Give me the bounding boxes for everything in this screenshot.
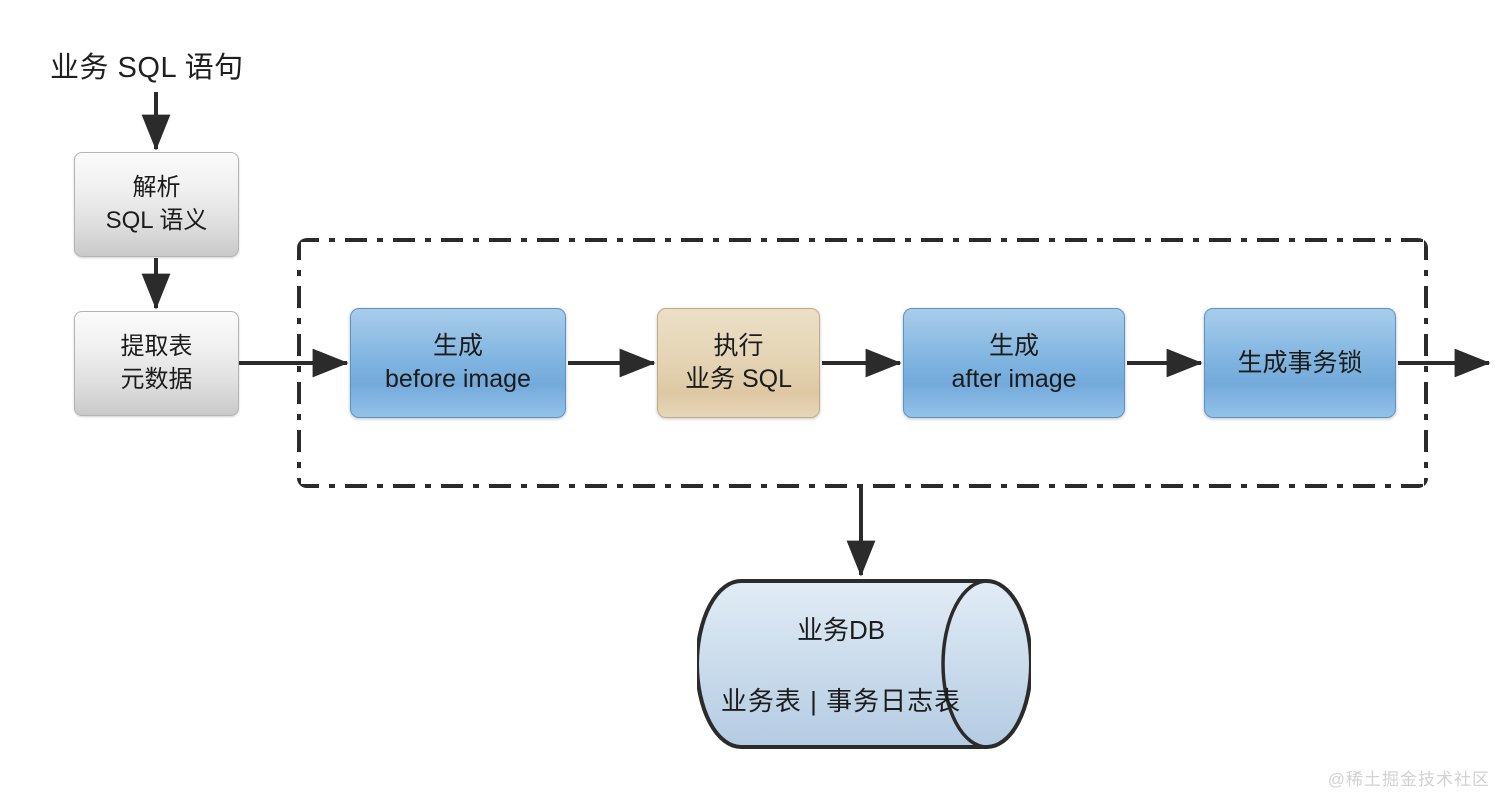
diagram-canvas: 业务 SQL 语句 解析 SQL 语义 提取表 元数据 生成 before im… [0,0,1512,806]
step-parse-sql-semantics[interactable]: 解析 SQL 语义 [74,152,239,257]
step-generate-after-image-line-1: 生成 [989,330,1039,363]
database-cylinder[interactable]: 业务DB 业务表 | 事务日志表 [697,578,1031,750]
watermark: @稀土掘金技术社区 [1328,765,1490,790]
step-generate-before-image[interactable]: 生成 before image [350,308,566,418]
step-parse-sql-semantics-line-2: SQL 语义 [106,205,208,237]
step-generate-before-image-line-1: 生成 [433,330,483,363]
step-execute-business-sql-line-2: 业务 SQL [685,363,792,396]
step-generate-transaction-lock[interactable]: 生成事务锁 [1204,308,1396,418]
source-label: 业务 SQL 语句 [50,44,244,86]
step-generate-transaction-lock-line-1: 生成事务锁 [1237,347,1362,380]
database-cylinder-shape [697,578,1031,750]
step-execute-business-sql-line-1: 执行 [713,330,763,363]
step-extract-table-metadata-line-2: 元数据 [121,364,193,396]
step-generate-before-image-line-2: before image [385,363,531,396]
step-extract-table-metadata[interactable]: 提取表 元数据 [74,311,239,416]
step-generate-after-image-line-2: after image [951,363,1076,396]
step-extract-table-metadata-line-1: 提取表 [121,331,193,363]
step-execute-business-sql[interactable]: 执行 业务 SQL [657,308,820,418]
step-generate-after-image[interactable]: 生成 after image [903,308,1125,418]
step-parse-sql-semantics-line-1: 解析 [133,172,181,204]
